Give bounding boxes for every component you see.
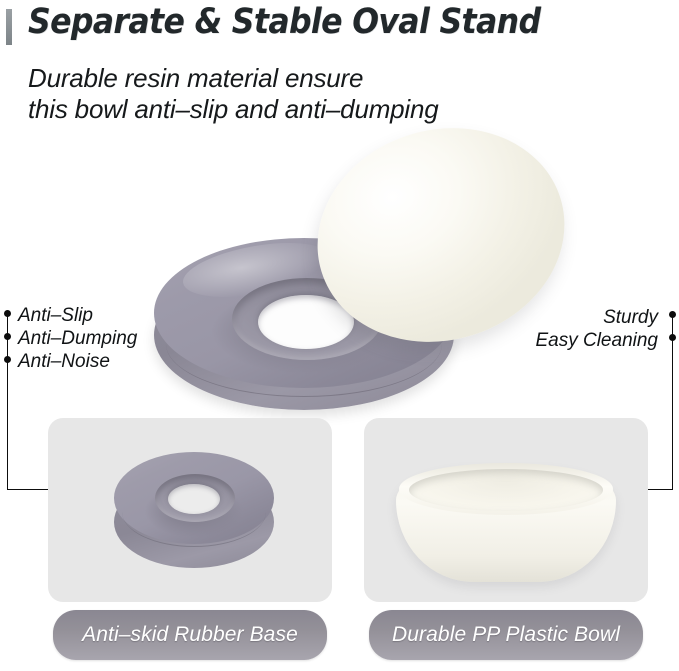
callout-left-label-3: Anti–Noise — [18, 349, 110, 374]
callout-left-bullet-dot-2 — [4, 333, 11, 340]
feature-panel-rubber-base — [48, 418, 332, 602]
feature-panel-plastic-bowl — [364, 418, 648, 602]
caption-pill-plastic-bowl-label: Durable PP Plastic Bowl — [392, 623, 620, 647]
callout-right-bullet-dot-2 — [669, 334, 676, 341]
panel-plastic-bowl-icon — [396, 466, 616, 586]
panel-bowl-cavity — [409, 469, 603, 511]
callout-left-label-2: Anti–Dumping — [18, 326, 137, 351]
callout-right-label-2: Easy Cleaning — [535, 328, 658, 353]
callout-right-bullet-dot-1 — [669, 311, 676, 318]
callout-left-bullet-dot-1 — [4, 310, 11, 317]
caption-pill-plastic-bowl: Durable PP Plastic Bowl — [369, 610, 643, 660]
caption-pill-rubber-base-label: Anti–skid Rubber Base — [82, 623, 298, 647]
callout-left-bullet-dot-3 — [4, 356, 11, 363]
panel-rubber-ring-base-icon — [110, 436, 278, 576]
caption-pill-rubber-base: Anti–skid Rubber Base — [53, 610, 327, 660]
panel-ring-hole — [168, 484, 220, 514]
callout-left-label-1: Anti–Slip — [18, 303, 93, 328]
callout-right-label-1: Sturdy — [603, 305, 658, 330]
infographic-canvas: Separate & Stable Oval Stand Durable res… — [0, 0, 679, 671]
